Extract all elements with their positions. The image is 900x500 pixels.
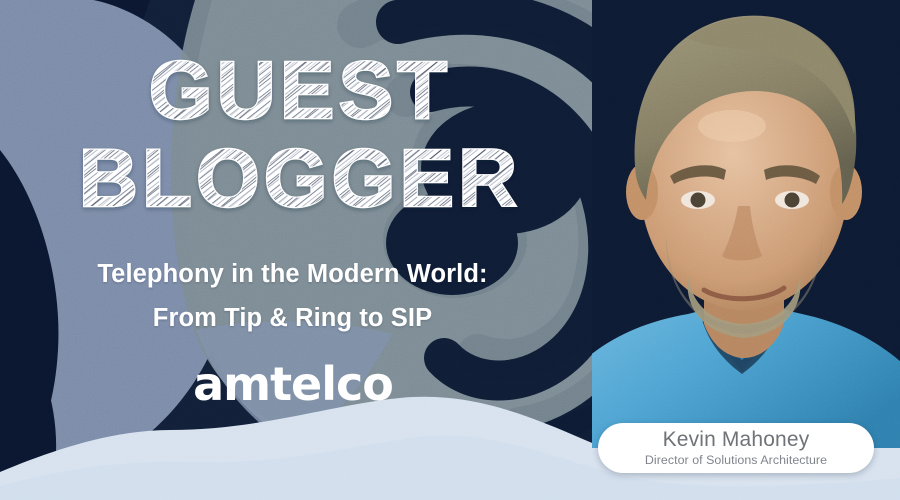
pupil-right	[785, 193, 800, 208]
speaker-name: Kevin Mahoney	[663, 429, 810, 451]
subtitle-line-2: From Tip & Ring to SIP	[0, 296, 585, 340]
amtelco-logo: amtelco	[0, 358, 585, 419]
forehead-highlight	[698, 110, 766, 142]
subtitle-line-1: Telephony in the Modern World:	[97, 260, 487, 288]
pupil-left	[691, 193, 706, 208]
guest-blogger-graphic: GUEST GUEST BLOGGER BLOGGER Telephony in…	[0, 0, 900, 500]
speaker-title: Director of Solutions Architecture	[645, 454, 827, 468]
amtelco-wordmark-text: amtelco	[193, 358, 393, 411]
speaker-name-card: Kevin Mahoney Director of Solutions Arch…	[598, 423, 874, 473]
subtitle-block: Telephony in the Modern World: From Tip …	[0, 252, 585, 340]
speaker-portrait	[592, 0, 900, 448]
